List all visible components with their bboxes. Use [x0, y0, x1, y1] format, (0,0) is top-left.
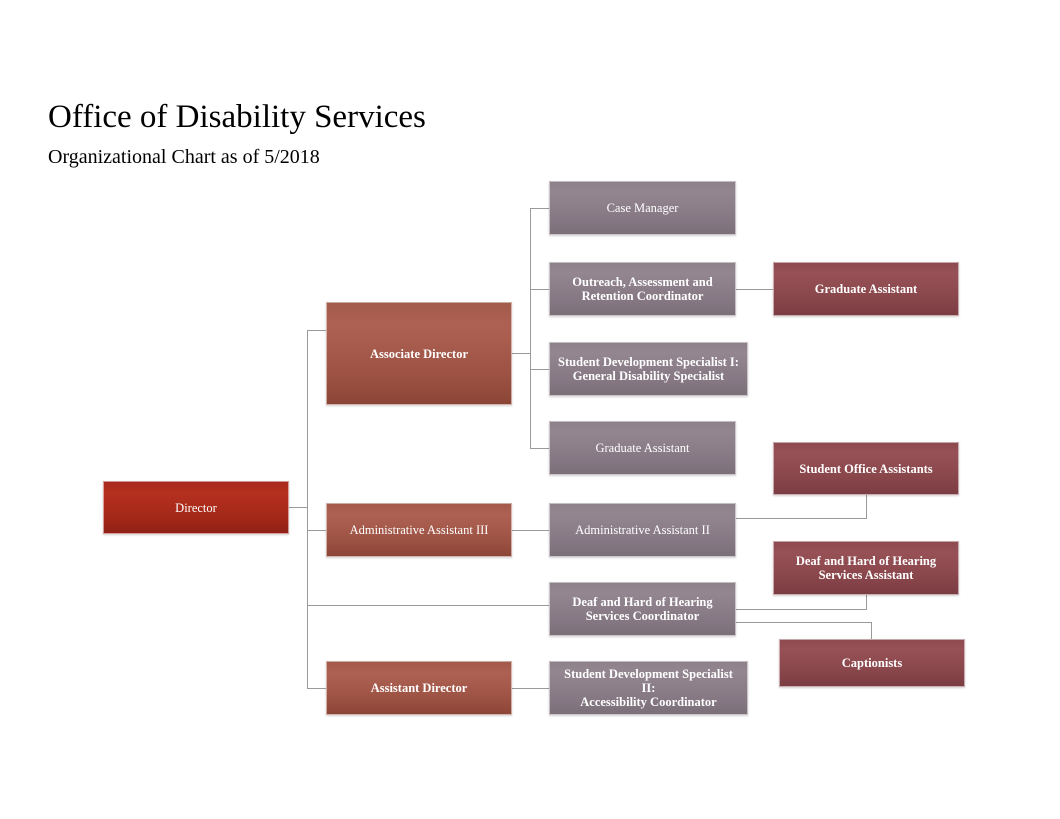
connector-to-admin-assistant-iii	[307, 530, 326, 531]
node-case-manager[interactable]: Case Manager	[549, 181, 736, 235]
node-dhh-coordinator[interactable]: Deaf and Hard of Hearing Services Coordi…	[549, 582, 736, 636]
node-student-office-assistants[interactable]: Student Office Assistants	[773, 442, 959, 495]
node-captionists[interactable]: Captionists	[779, 639, 965, 687]
org-chart-canvas: Office of Disability Services Organizati…	[0, 0, 1060, 819]
connector-assistant-director-to-sds-ii	[512, 688, 549, 689]
connector-to-case-manager	[530, 208, 549, 209]
node-admin-assistant-ii[interactable]: Administrative Assistant II	[549, 503, 736, 557]
node-label-director: Director	[110, 501, 282, 515]
node-admin-assistant-iii[interactable]: Administrative Assistant III	[326, 503, 512, 557]
node-outreach-coordinator[interactable]: Outreach, Assessment and Retention Coord…	[549, 262, 736, 316]
node-label-captionists: Captionists	[786, 656, 958, 670]
node-sds-i[interactable]: Student Development Specialist I: Genera…	[549, 342, 748, 396]
connector-admin-ii-to-student-office-assistants	[736, 518, 867, 519]
node-graduate-assistant-assoc[interactable]: Graduate Assistant	[549, 421, 736, 475]
connector-to-assistant-director	[307, 688, 326, 689]
node-label-sds-i-line2: General Disability Specialist	[573, 369, 724, 383]
connector-to-outreach-coordinator	[530, 289, 549, 290]
connector-to-sds-i	[530, 369, 549, 370]
connector-admin-iii-to-admin-ii	[512, 530, 549, 531]
node-label-assistant-director: Assistant Director	[333, 681, 505, 695]
connector-director-stub	[289, 507, 308, 508]
node-assistant-director[interactable]: Assistant Director	[326, 661, 512, 715]
node-label-outreach-coordinator: Outreach, Assessment and Retention Coord…	[556, 275, 729, 303]
node-label-dhh-coordinator-line2: Services Coordinator	[586, 609, 700, 623]
connector-to-associate-director	[307, 330, 326, 331]
page-title: Office of Disability Services	[48, 97, 426, 137]
node-associate-director[interactable]: Associate Director	[326, 302, 512, 405]
node-label-dhh-services-assistant-line1: Deaf and Hard of Hearing	[796, 554, 936, 568]
node-sds-ii[interactable]: Student Development Specialist II: Acces…	[549, 661, 748, 715]
node-label-sds-ii-line2: Accessibility Coordinator	[580, 695, 716, 709]
node-label-sds-i-line1: Student Development Specialist I:	[558, 355, 739, 369]
node-graduate-assistant-outreach[interactable]: Graduate Assistant	[773, 262, 959, 316]
node-label-case-manager: Case Manager	[556, 201, 729, 215]
connector-associate-director-stub	[512, 353, 531, 354]
node-label-dhh-services-assistant: Deaf and Hard of Hearing Services Assist…	[780, 554, 952, 582]
node-label-sds-ii-line1: Student Development Specialist II:	[564, 667, 733, 695]
node-label-student-office-assistants: Student Office Assistants	[780, 462, 952, 476]
node-label-admin-assistant-iii: Administrative Assistant III	[333, 523, 505, 537]
connector-director-trunk	[307, 330, 308, 689]
connector-associate-director-trunk	[530, 208, 531, 448]
node-label-admin-assistant-ii: Administrative Assistant II	[556, 523, 729, 537]
connector-captionists-dropper	[871, 622, 872, 639]
connector-student-office-assistants-riser	[866, 494, 867, 519]
node-label-dhh-services-assistant-line2: Services Assistant	[819, 568, 914, 582]
node-label-outreach-coordinator-line1: Outreach, Assessment and	[572, 275, 712, 289]
node-label-graduate-assistant-outreach: Graduate Assistant	[780, 282, 952, 296]
page-subtitle: Organizational Chart as of 5/2018	[48, 144, 320, 170]
node-label-graduate-assistant-assoc: Graduate Assistant	[556, 441, 729, 455]
connector-outreach-to-graduate-assistant	[736, 289, 773, 290]
node-label-dhh-coordinator-line1: Deaf and Hard of Hearing	[572, 595, 712, 609]
node-label-sds-ii: Student Development Specialist II: Acces…	[556, 667, 741, 709]
node-dhh-services-assistant[interactable]: Deaf and Hard of Hearing Services Assist…	[773, 541, 959, 595]
node-label-dhh-coordinator: Deaf and Hard of Hearing Services Coordi…	[556, 595, 729, 623]
connector-dhh-services-assistant-riser	[866, 594, 867, 610]
node-label-associate-director: Associate Director	[333, 347, 505, 361]
connector-dhh-to-services-assistant	[736, 609, 867, 610]
node-label-sds-i: Student Development Specialist I: Genera…	[556, 355, 741, 383]
connector-to-graduate-assistant-assoc	[530, 448, 549, 449]
node-director[interactable]: Director	[103, 481, 289, 534]
connector-to-dhh-coordinator	[307, 605, 549, 606]
connector-dhh-to-captionists	[736, 622, 872, 623]
node-label-outreach-coordinator-line2: Retention Coordinator	[582, 289, 704, 303]
